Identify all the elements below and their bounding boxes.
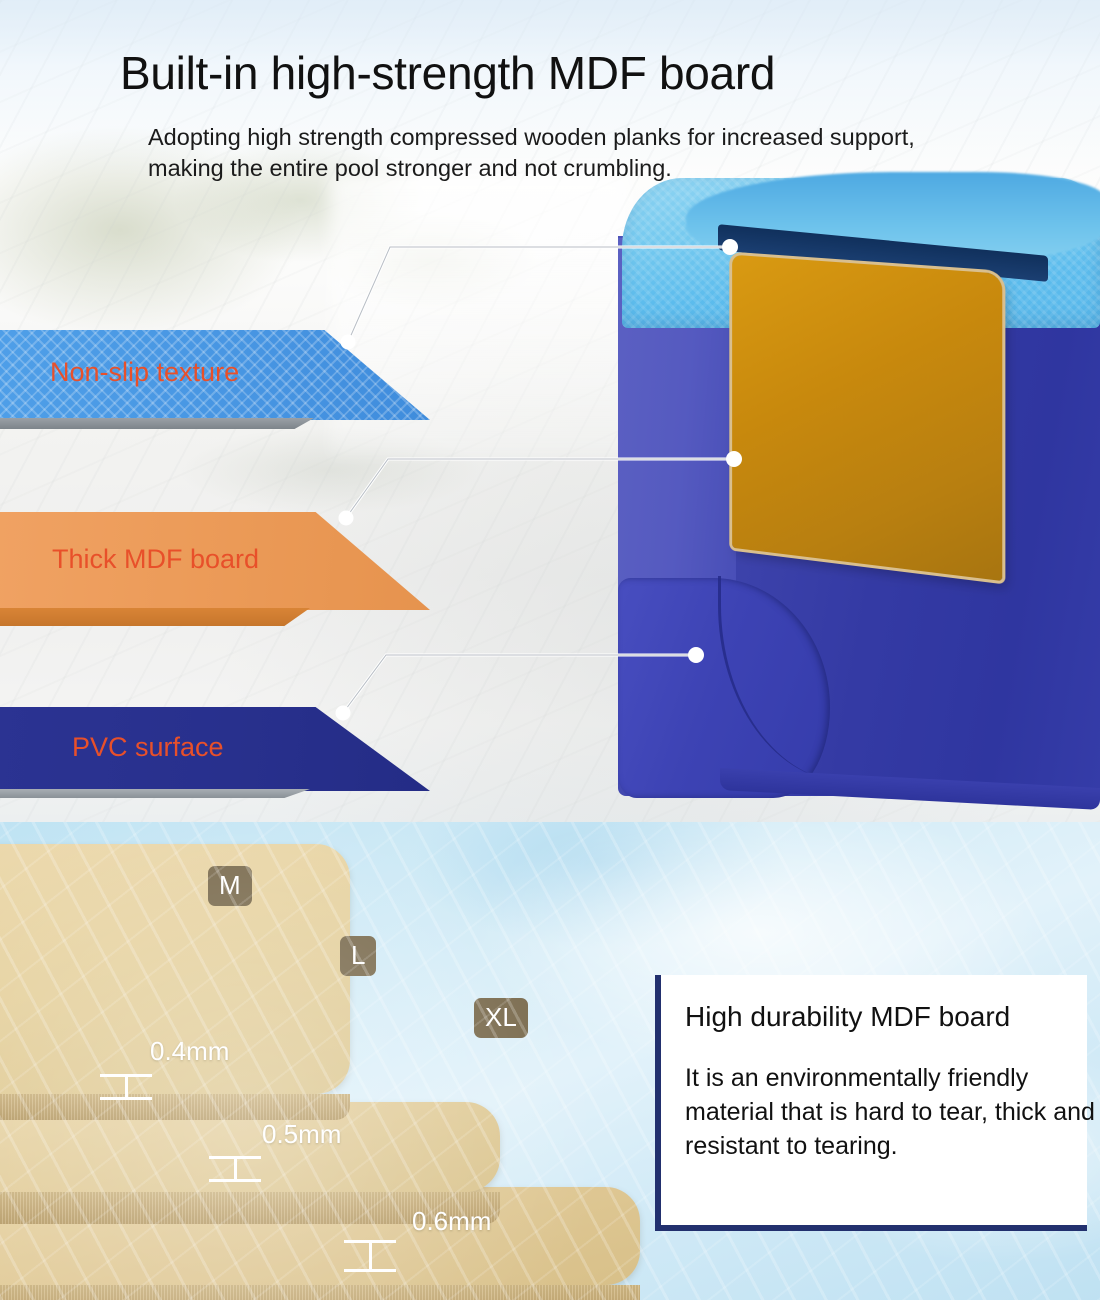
thickness-label-m: 0.4mm — [150, 1036, 229, 1067]
marker-stem — [125, 1074, 128, 1100]
size-badge-m: M — [208, 866, 252, 906]
dimension-marker-m — [100, 1074, 152, 1100]
marker-stem — [369, 1240, 372, 1272]
dimension-marker-xl — [344, 1240, 396, 1272]
dimension-marker-l — [209, 1156, 261, 1182]
product-infographic: Built-in high-strength MDF board Adoptin… — [0, 0, 1100, 1300]
info-card-body: It is an environmentally friendly materi… — [685, 1061, 1100, 1163]
size-badge-l: L — [340, 936, 376, 976]
callout-leader-lines — [0, 0, 1100, 822]
durability-info-card: High durability MDF board It is an envir… — [655, 975, 1087, 1231]
marker-stem — [234, 1156, 237, 1182]
thickness-label-xl: 0.6mm — [412, 1206, 491, 1237]
size-badge-xl: XL — [474, 998, 528, 1038]
layers-section: Built-in high-strength MDF board Adoptin… — [0, 0, 1100, 822]
board-edge — [0, 1285, 640, 1300]
info-card-title: High durability MDF board — [685, 1001, 1010, 1033]
board-edge — [0, 1094, 350, 1120]
thickness-label-l: 0.5mm — [262, 1119, 341, 1150]
